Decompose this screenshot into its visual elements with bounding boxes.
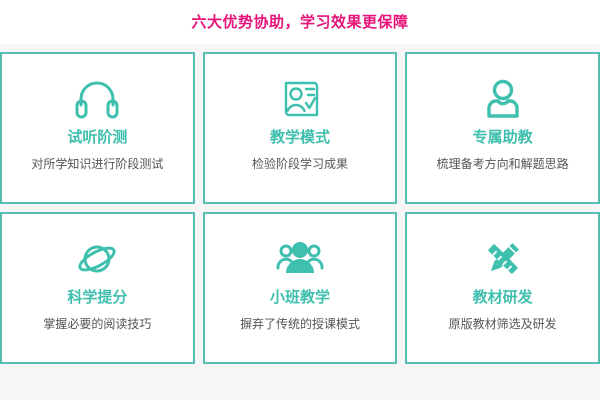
advantage-card-desc: 掌握必要的阅读技巧 [43,317,151,331]
advantage-card-title: 教材研发 [473,290,533,307]
group-people-icon [275,234,325,284]
advantage-card-2[interactable]: 教学模式 检验阶段学习成果 [203,52,398,204]
headline-bar: 六大优势协助，学习效果更保障 [0,0,600,44]
advantage-card-title: 小班教学 [270,290,330,307]
person-avatar-icon [480,74,526,124]
advantage-card-title: 试听阶测 [67,130,127,147]
advantages-section: 六大优势协助，学习效果更保障 试听阶测 对所学知识进行阶段测试 [0,0,600,400]
page-title: 六大优势协助，学习效果更保障 [191,15,408,30]
advantage-card-title: 科学提分 [67,290,127,307]
advantages-grid: 试听阶测 对所学知识进行阶段测试 教学模式 检验阶段学习成果 [0,52,600,364]
advantage-card-6[interactable]: 教材研发 原版教材筛选及研发 [405,212,600,364]
headphones-icon [74,74,120,124]
advantage-card-5[interactable]: 小班教学 摒弃了传统的授课模式 [203,212,398,364]
advantage-card-desc: 对所学知识进行阶段测试 [31,157,163,171]
id-card-person-icon [277,74,323,124]
pencil-ruler-icon [479,234,527,284]
advantage-card-desc: 检验阶段学习成果 [252,157,348,171]
cards-background: 试听阶测 对所学知识进行阶段测试 教学模式 检验阶段学习成果 [0,44,600,400]
advantage-card-desc: 梳理备考方向和解题思路 [437,157,569,171]
advantage-card-3[interactable]: 专属助教 梳理备考方向和解题思路 [405,52,600,204]
advantage-card-title: 专属助教 [473,130,533,147]
advantage-card-title: 教学模式 [270,130,330,147]
advantage-card-4[interactable]: 科学提分 掌握必要的阅读技巧 [0,212,195,364]
planet-icon [74,234,120,284]
advantage-card-desc: 摒弃了传统的授课模式 [240,317,360,331]
advantage-card-1[interactable]: 试听阶测 对所学知识进行阶段测试 [0,52,195,204]
advantage-card-desc: 原版教材筛选及研发 [449,317,557,331]
